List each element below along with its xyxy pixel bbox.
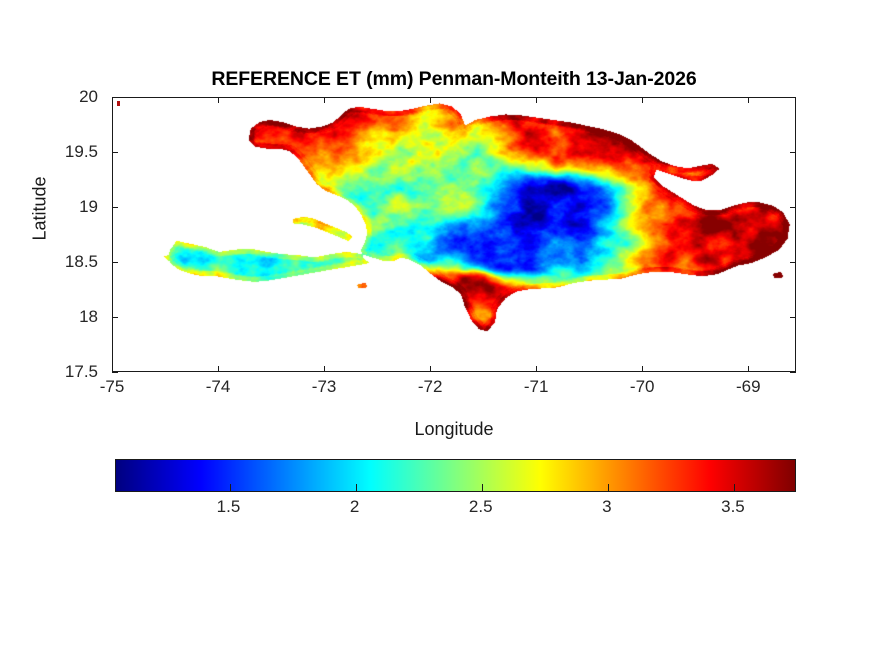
colorbar-tick-label: 3.5	[721, 497, 745, 517]
colorbar-tick	[608, 484, 609, 491]
x-tick	[218, 97, 219, 103]
y-tick	[790, 152, 796, 153]
colorbar-tick-label: 2.5	[469, 497, 493, 517]
y-tick	[112, 152, 118, 153]
x-tick	[324, 97, 325, 103]
x-tick	[536, 97, 537, 103]
x-tick	[324, 366, 325, 372]
colorbar-tick-label: 1.5	[217, 497, 241, 517]
x-tick	[748, 97, 749, 103]
y-tick-label: 18	[79, 307, 98, 327]
x-tick	[430, 366, 431, 372]
y-tick-label: 20	[79, 87, 98, 107]
x-tick	[536, 366, 537, 372]
chart-title: REFERENCE ET (mm) Penman-Monteith 13-Jan…	[112, 68, 796, 91]
y-tick	[112, 207, 118, 208]
x-tick-label: -69	[736, 377, 761, 397]
y-tick	[790, 262, 796, 263]
y-tick	[790, 372, 796, 373]
map-axes	[112, 97, 796, 372]
x-tick-label: -73	[312, 377, 337, 397]
y-tick-label: 19	[79, 197, 98, 217]
y-tick	[112, 317, 118, 318]
x-tick-label: -72	[418, 377, 443, 397]
x-tick	[748, 366, 749, 372]
x-tick	[430, 97, 431, 103]
stray-data-marker	[117, 101, 120, 106]
y-tick	[790, 97, 796, 98]
x-tick-label: -70	[630, 377, 655, 397]
x-tick	[642, 97, 643, 103]
figure-canvas: REFERENCE ET (mm) Penman-Monteith 13-Jan…	[0, 0, 875, 656]
colorbar-tick	[734, 484, 735, 491]
x-tick-label: -71	[524, 377, 549, 397]
y-tick	[790, 317, 796, 318]
y-tick	[112, 97, 118, 98]
x-tick	[218, 366, 219, 372]
colorbar-tick-label: 2	[350, 497, 359, 517]
y-tick-label: 19.5	[65, 142, 98, 162]
colorbar-gradient	[116, 460, 795, 491]
colorbar-tick	[482, 484, 483, 491]
y-tick	[790, 207, 796, 208]
colorbar	[115, 459, 796, 492]
et-heatmap	[113, 98, 796, 372]
colorbar-tick	[230, 484, 231, 491]
colorbar-tick-label: 3	[602, 497, 611, 517]
x-tick-label: -75	[100, 377, 125, 397]
y-axis-label: Latitude	[30, 109, 51, 309]
x-axis-label: Longitude	[112, 419, 796, 440]
colorbar-tick	[356, 484, 357, 491]
y-tick-label: 18.5	[65, 252, 98, 272]
x-tick	[642, 366, 643, 372]
y-tick-label: 17.5	[65, 362, 98, 382]
x-tick-label: -74	[206, 377, 231, 397]
y-tick	[112, 262, 118, 263]
y-tick	[112, 372, 118, 373]
